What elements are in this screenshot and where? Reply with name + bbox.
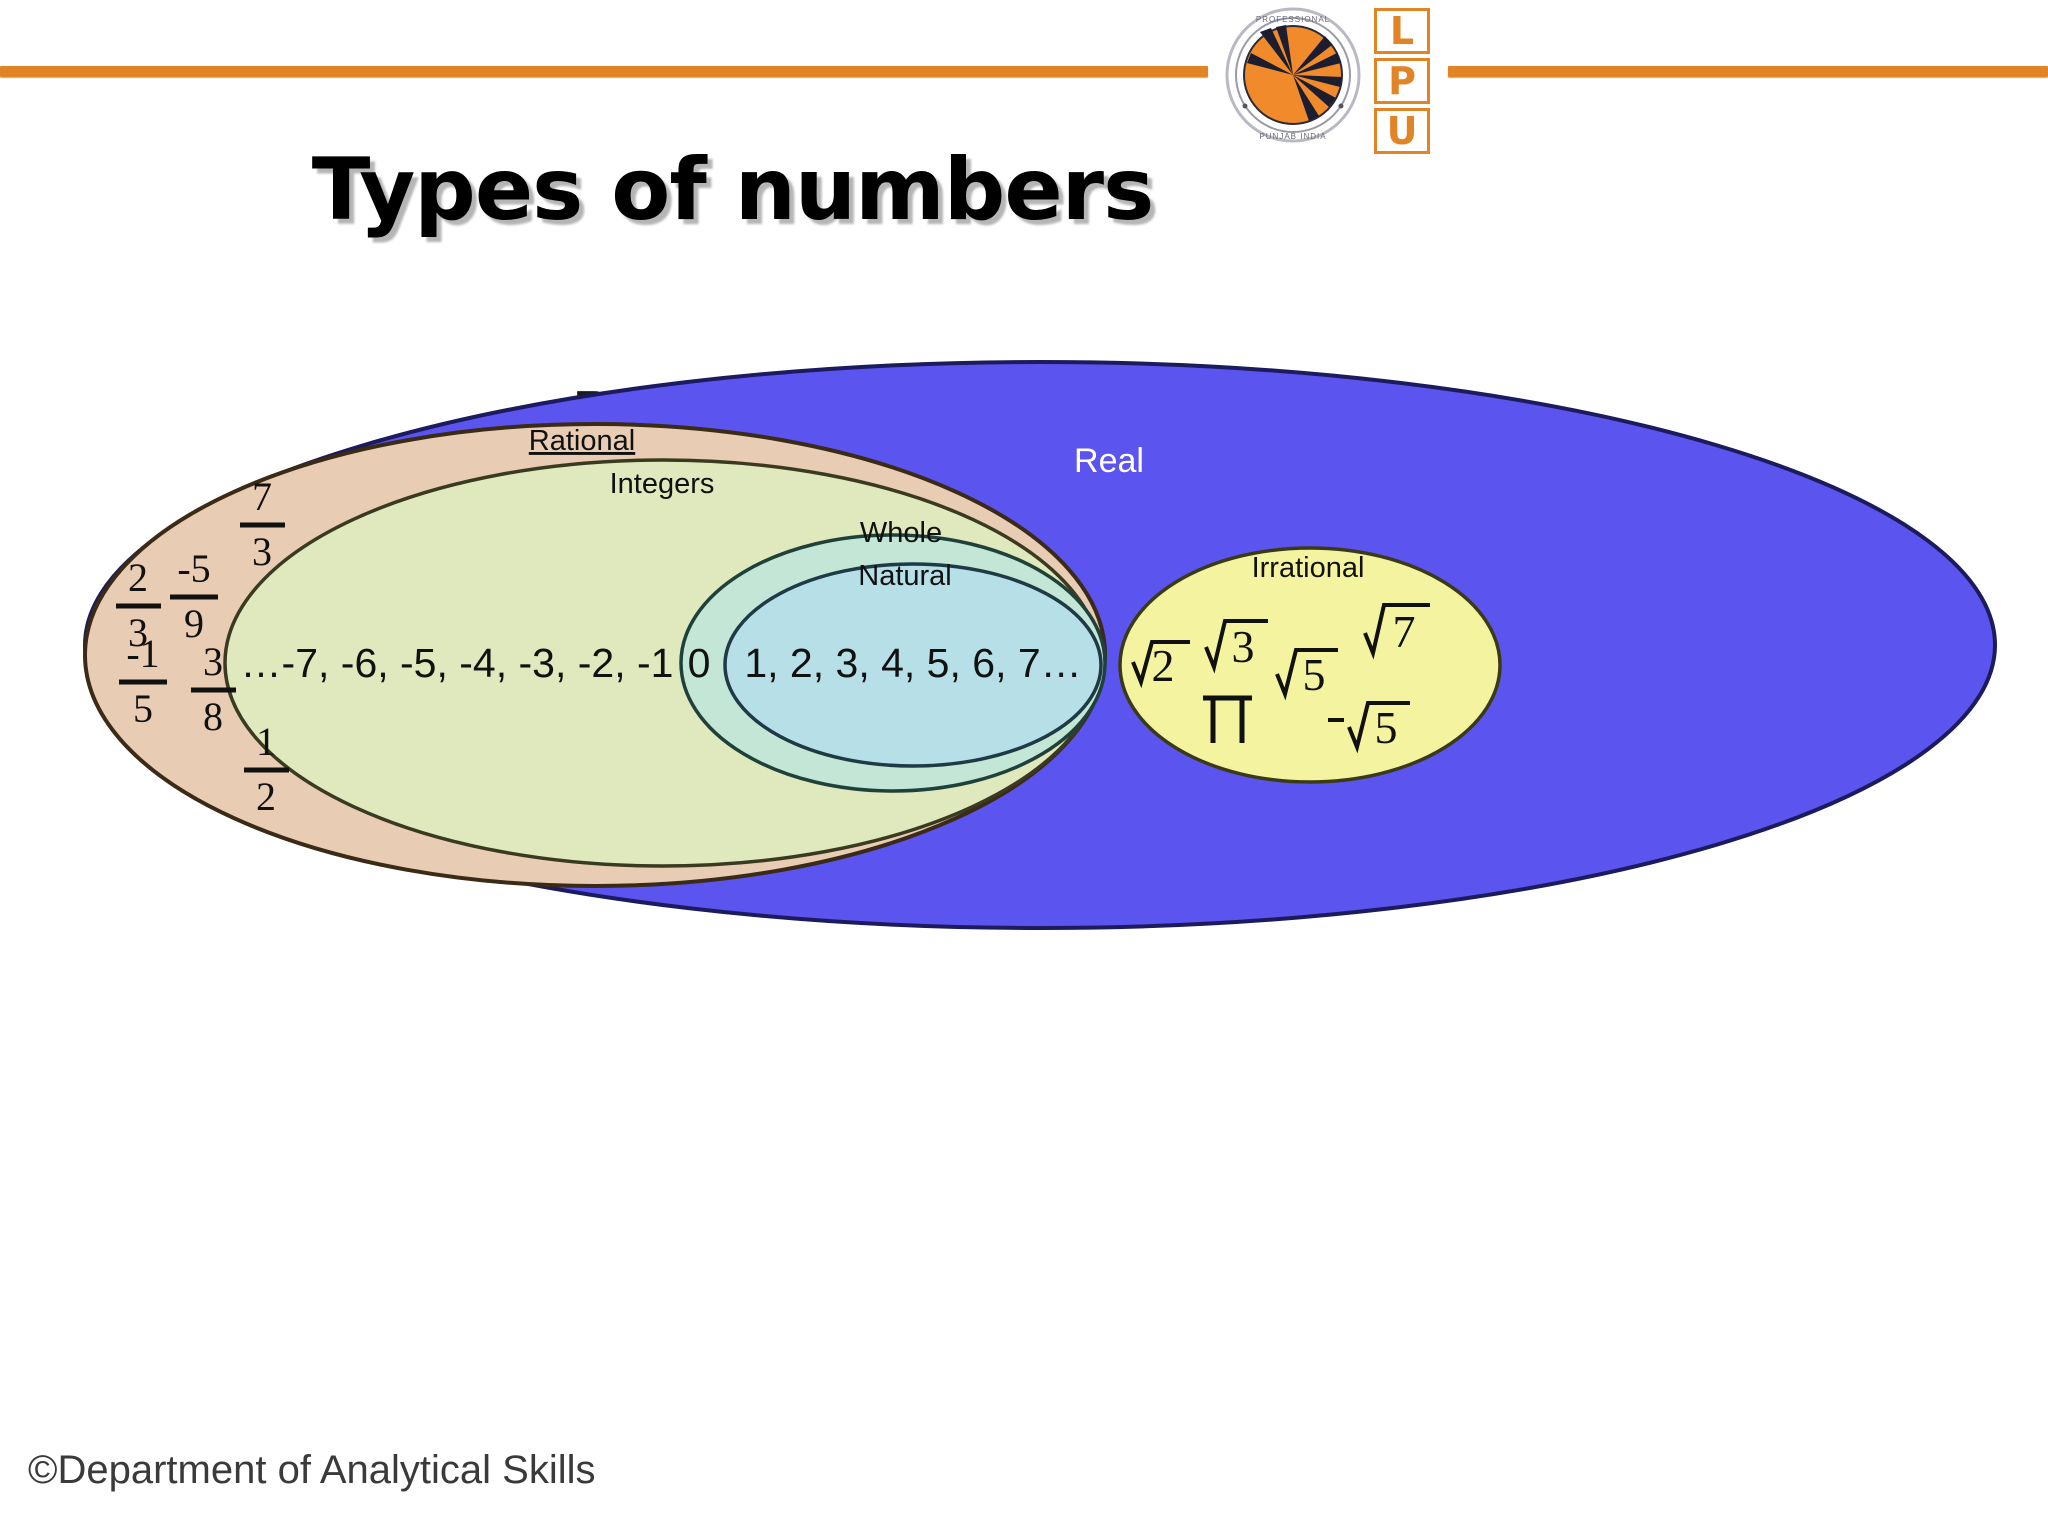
- natural-values: 1, 2, 3, 4, 5, 6, 7…: [744, 640, 1081, 686]
- set-label-irrational: Irrational: [1252, 552, 1365, 584]
- venn-diagram-svg: Rational Integers Whole Natural Real Irr…: [0, 355, 2048, 955]
- venn-diagram: Rational Integers Whole Natural Real Irr…: [0, 355, 2048, 955]
- svg-text:PROFESSIONAL: PROFESSIONAL: [1256, 15, 1330, 24]
- fraction-numerator: 7: [252, 474, 272, 519]
- radicand-2: 2: [1152, 640, 1175, 691]
- page-title: Types of numbers: [0, 140, 1465, 240]
- set-label-rational: Rational: [529, 425, 635, 457]
- radicand-7: 7: [1393, 606, 1416, 657]
- lpu-crest-svg: PROFESSIONAL PUNJAB INDIA: [1224, 6, 1362, 144]
- set-label-natural: Natural: [858, 560, 952, 592]
- set-label-real: Real: [1074, 442, 1144, 480]
- whole-only-value: 0: [688, 640, 711, 686]
- header-band: PROFESSIONAL PUNJAB INDIA L P U: [0, 0, 2048, 150]
- accent-rule-right: [1448, 66, 2048, 77]
- lpu-crest-logo: PROFESSIONAL PUNJAB INDIA: [1224, 6, 1362, 144]
- fraction-numerator: -1: [126, 631, 159, 676]
- lpu-letter-l: L: [1374, 8, 1430, 54]
- accent-rule-left: [0, 66, 1208, 77]
- fraction-denominator: 2: [256, 774, 276, 819]
- fraction-numerator: 2: [128, 555, 148, 600]
- radicand-5-negative: 5: [1375, 702, 1398, 753]
- fraction-numerator: 1: [256, 719, 276, 764]
- integers-values: …-7, -6, -5, -4, -3, -2, -1: [241, 640, 674, 686]
- radicand-5: 5: [1303, 649, 1326, 700]
- fraction-denominator: 5: [133, 686, 153, 731]
- fraction-denominator: 3: [252, 529, 272, 574]
- fraction-denominator: 8: [203, 694, 223, 739]
- footer-credit: ©Department of Analytical Skills: [28, 1448, 595, 1493]
- radicand-3: 3: [1232, 621, 1255, 672]
- lpu-letter-boxes: L P U: [1374, 6, 1436, 156]
- fraction-numerator: 3: [203, 639, 223, 684]
- set-label-integers: Integers: [610, 468, 715, 500]
- fraction-numerator: -5: [177, 546, 210, 591]
- fraction-denominator: 9: [184, 601, 204, 646]
- set-label-whole: Whole: [860, 517, 942, 549]
- lpu-letter-p: P: [1374, 58, 1430, 104]
